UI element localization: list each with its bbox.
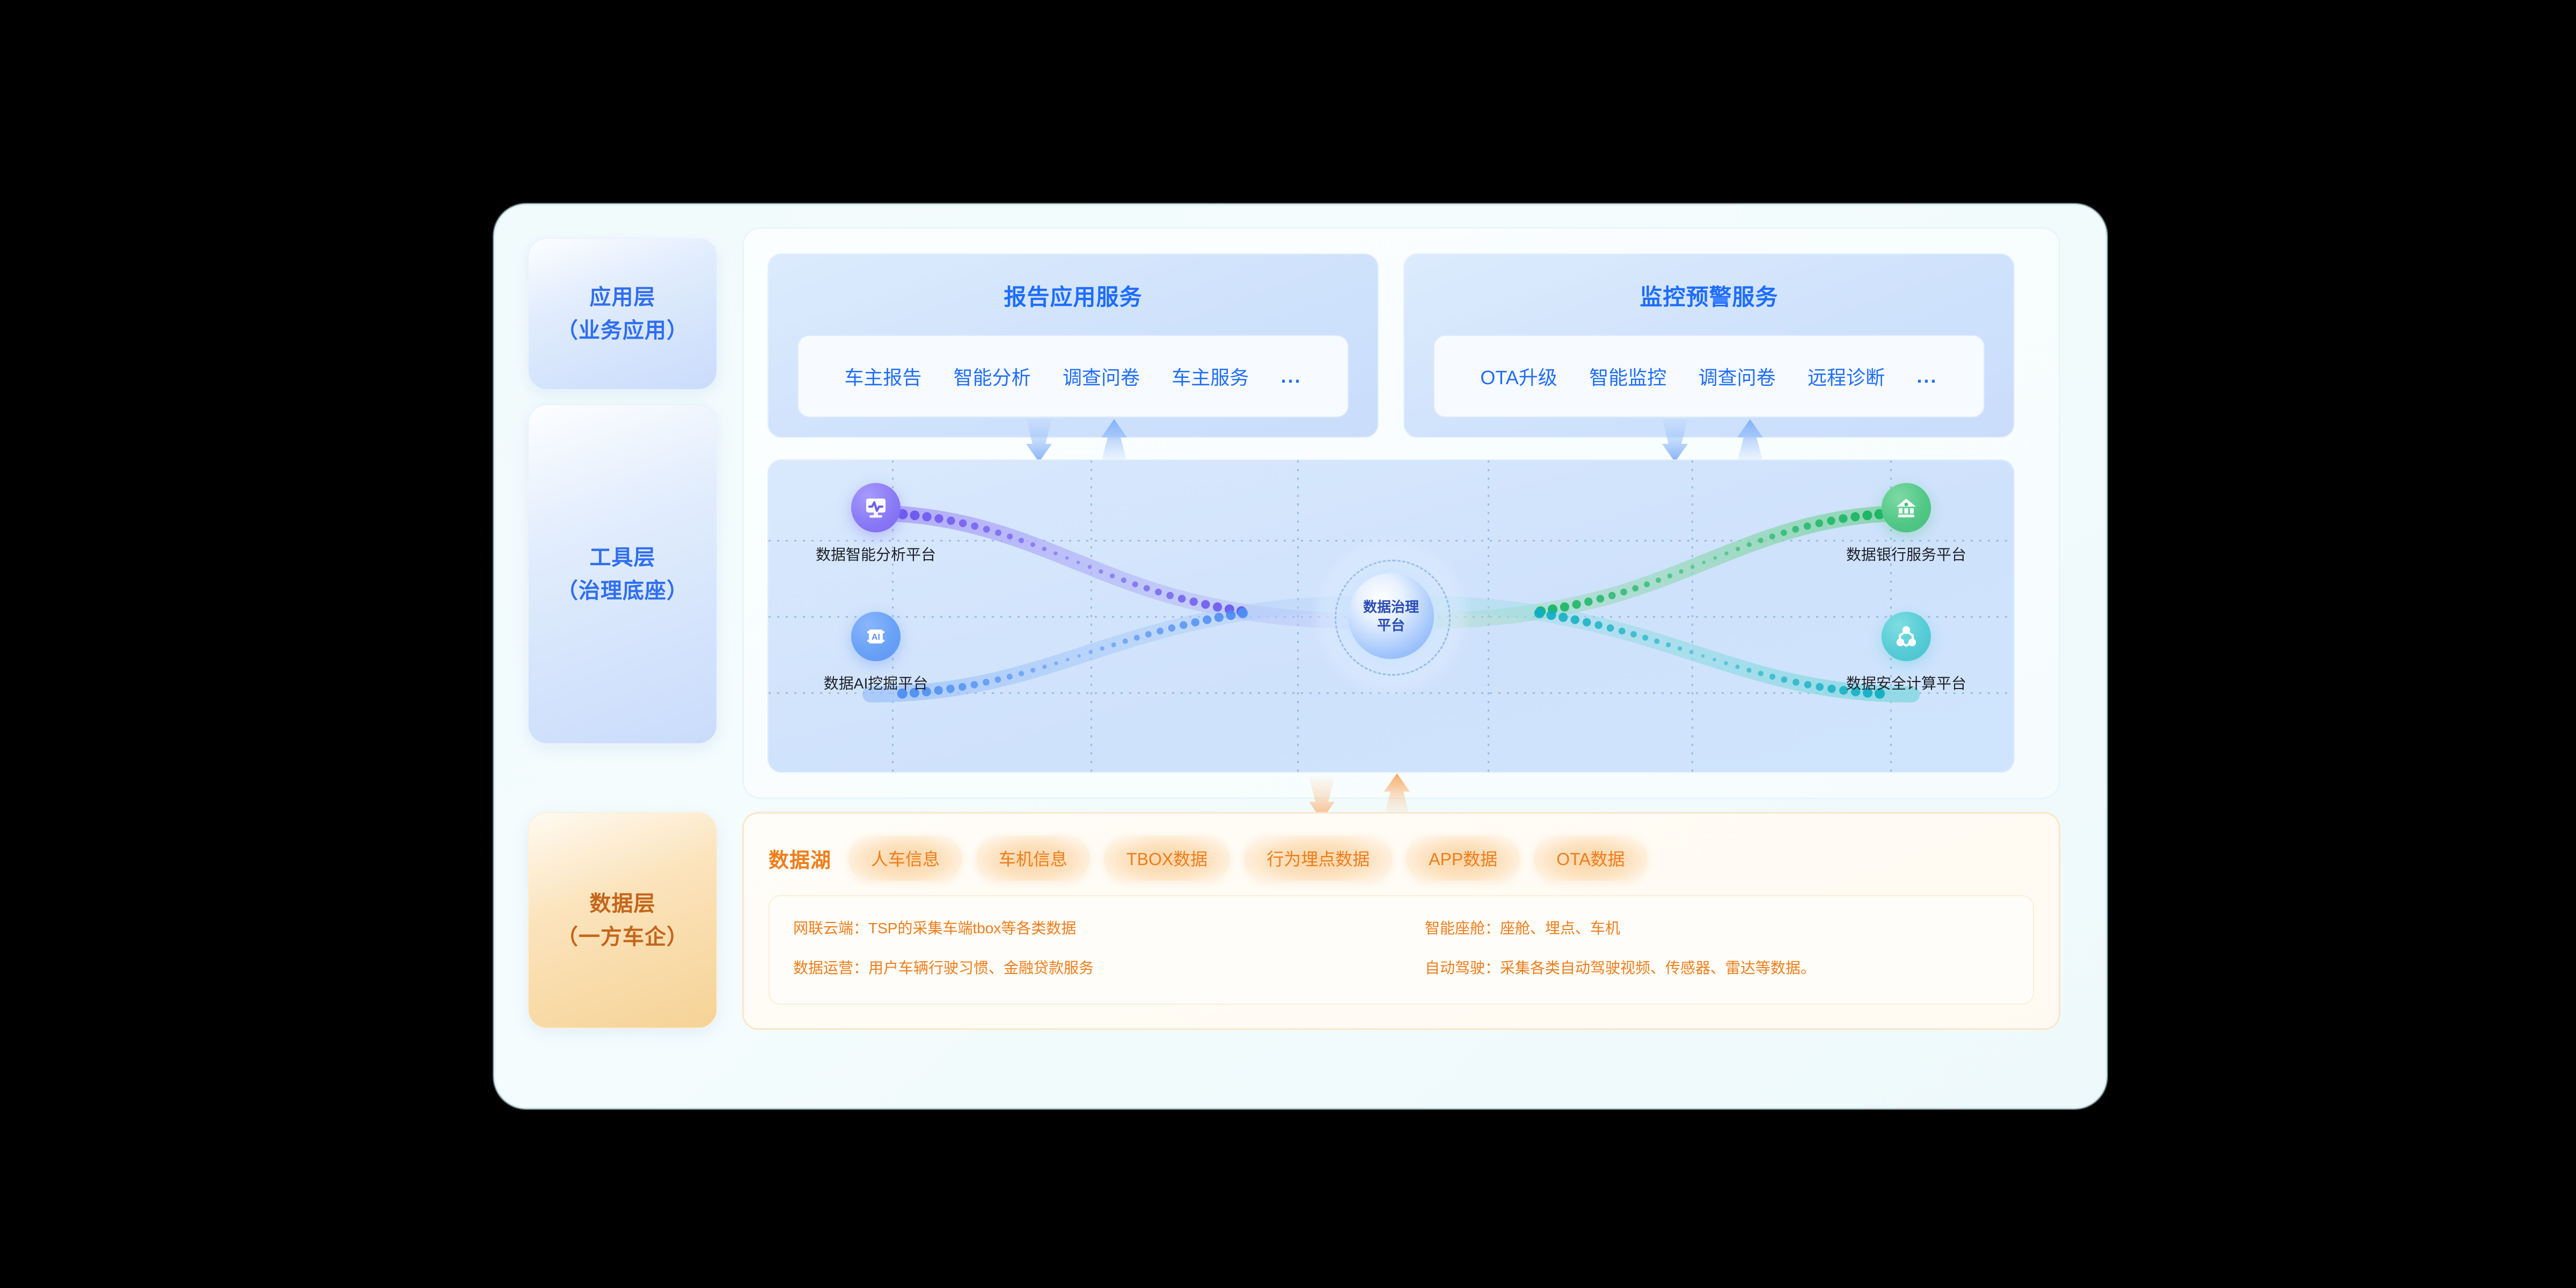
arrow-up-icon [1098, 419, 1130, 462]
service-tag[interactable]: 调查问卷 [1063, 362, 1140, 390]
service-tag-more[interactable]: ... [1917, 365, 1938, 387]
data-lake-row: 数据湖 人车信息 车机信息 TBOX数据 行为埋点数据 APP数据 OTA数据 [769, 834, 2034, 882]
description-column-right: 智能座舱：座舱、埋点、车机 自动驾驶：采集各类自动驾驶视频、传感器、雷达等数据。 [1401, 896, 2033, 1004]
data-layer-panel: 数据湖 人车信息 车机信息 TBOX数据 行为埋点数据 APP数据 OTA数据 … [742, 812, 2060, 1030]
platform-node-ai-mining[interactable]: AI 数据AI挖掘平台 [795, 612, 956, 693]
data-lake-tag[interactable]: 行为埋点数据 [1244, 836, 1392, 881]
data-lake-tag[interactable]: 车机信息 [976, 836, 1090, 881]
service-tag[interactable]: 调查问卷 [1699, 362, 1776, 390]
platform-label: 数据安全计算平台 [1826, 672, 1987, 693]
data-description-box: 网联云端：TSP的采集车端tbox等各类数据 数据运营：用户车辆行驶习惯、金融贷… [769, 895, 2034, 1005]
description-column-left: 网联云端：TSP的采集车端tbox等各类数据 数据运营：用户车辆行驶习惯、金融贷… [770, 896, 1401, 1004]
service-tag[interactable]: 智能监控 [1589, 362, 1666, 390]
arrow-up-icon [1734, 419, 1766, 462]
application-and-tool-container: 报告应用服务 车主报告 智能分析 调查问卷 车主服务 ... 监控预警服务 OT… [742, 227, 2060, 799]
service-tag[interactable]: 车主服务 [1172, 362, 1249, 390]
platform-node-bank[interactable]: 数据银行服务平台 [1826, 483, 1987, 565]
arrow-up-icon [1381, 773, 1413, 816]
service-tag[interactable]: OTA升级 [1480, 362, 1557, 390]
layer-chip-tool: 工具层 （治理底座） [528, 404, 718, 744]
platform-node-ai-analysis[interactable]: 数据智能分析平台 [795, 483, 956, 565]
hub-label-line1: 数据治理 [1363, 598, 1419, 616]
layer-subtitle-application: （业务应用） [557, 314, 689, 347]
service-tag-list: OTA升级 智能监控 调查问卷 远程诊断 ... [1433, 335, 1985, 418]
description-line: 自动驾驶：采集各类自动驾驶视频、传感器、雷达等数据。 [1425, 956, 2033, 978]
service-tag[interactable]: 车主报告 [844, 362, 921, 390]
platform-label: 数据银行服务平台 [1826, 543, 1987, 565]
data-lake-tag[interactable]: 人车信息 [848, 836, 962, 881]
svg-text:AI: AI [872, 633, 880, 642]
description-line: 网联云端：TSP的采集车端tbox等各类数据 [793, 917, 1401, 938]
layer-title-data: 数据层 [557, 887, 689, 920]
service-card-monitoring: 监控预警服务 OTA升级 智能监控 调查问卷 远程诊断 ... [1403, 253, 2015, 438]
data-lake-title: 数据湖 [769, 844, 831, 873]
platform-node-security[interactable]: 数据安全计算平台 [1826, 612, 1987, 693]
hub-core: 数据治理 平台 [1348, 573, 1434, 659]
service-card-title: 监控预警服务 [1404, 279, 2014, 312]
data-lake-tag[interactable]: OTA数据 [1534, 836, 1647, 881]
service-tag[interactable]: 远程诊断 [1807, 362, 1885, 390]
ai-chip-icon: AI [851, 612, 901, 661]
platform-label: 数据AI挖掘平台 [795, 672, 956, 693]
service-tag[interactable]: 智能分析 [954, 362, 1031, 390]
service-tag-list: 车主报告 智能分析 调查问卷 车主服务 ... [797, 335, 1349, 418]
monitor-pulse-icon [851, 483, 901, 532]
platform-label: 数据智能分析平台 [795, 543, 956, 565]
layer-chip-application: 应用层 （业务应用） [528, 238, 718, 390]
hub-label-line2: 平台 [1377, 616, 1405, 634]
data-lake-tag[interactable]: TBOX数据 [1104, 836, 1230, 881]
arrow-down-icon [1023, 419, 1055, 462]
service-card-report: 报告应用服务 车主报告 智能分析 调查问卷 车主服务 ... [767, 253, 1379, 438]
central-hub: 数据治理 平台 [1309, 525, 1473, 707]
tool-layer-panel: 数据治理 平台 数据智能分析平台 [767, 459, 2015, 773]
bank-icon [1882, 483, 1931, 532]
service-tag-more[interactable]: ... [1281, 365, 1302, 387]
layer-subtitle-tool: （治理底座） [557, 574, 689, 608]
layer-title-application: 应用层 [557, 281, 689, 314]
molecule-node-icon [1882, 612, 1931, 661]
description-line: 智能座舱：座舱、埋点、车机 [1425, 917, 2033, 938]
layer-subtitle-data: （一方车企） [557, 920, 689, 954]
layer-title-tool: 工具层 [557, 541, 689, 574]
diagram-canvas: 应用层 （业务应用） 工具层 （治理底座） 数据层 （一方车企） 报告应用服务 … [0, 0, 2576, 1288]
architecture-board: 应用层 （业务应用） 工具层 （治理底座） 数据层 （一方车企） 报告应用服务 … [494, 204, 2107, 1109]
service-card-title: 报告应用服务 [769, 279, 1378, 312]
description-line: 数据运营：用户车辆行驶习惯、金融贷款服务 [793, 956, 1401, 978]
arrow-down-icon [1659, 419, 1691, 462]
data-lake-tag[interactable]: APP数据 [1406, 836, 1520, 881]
layer-chip-data: 数据层 （一方车企） [528, 812, 718, 1029]
